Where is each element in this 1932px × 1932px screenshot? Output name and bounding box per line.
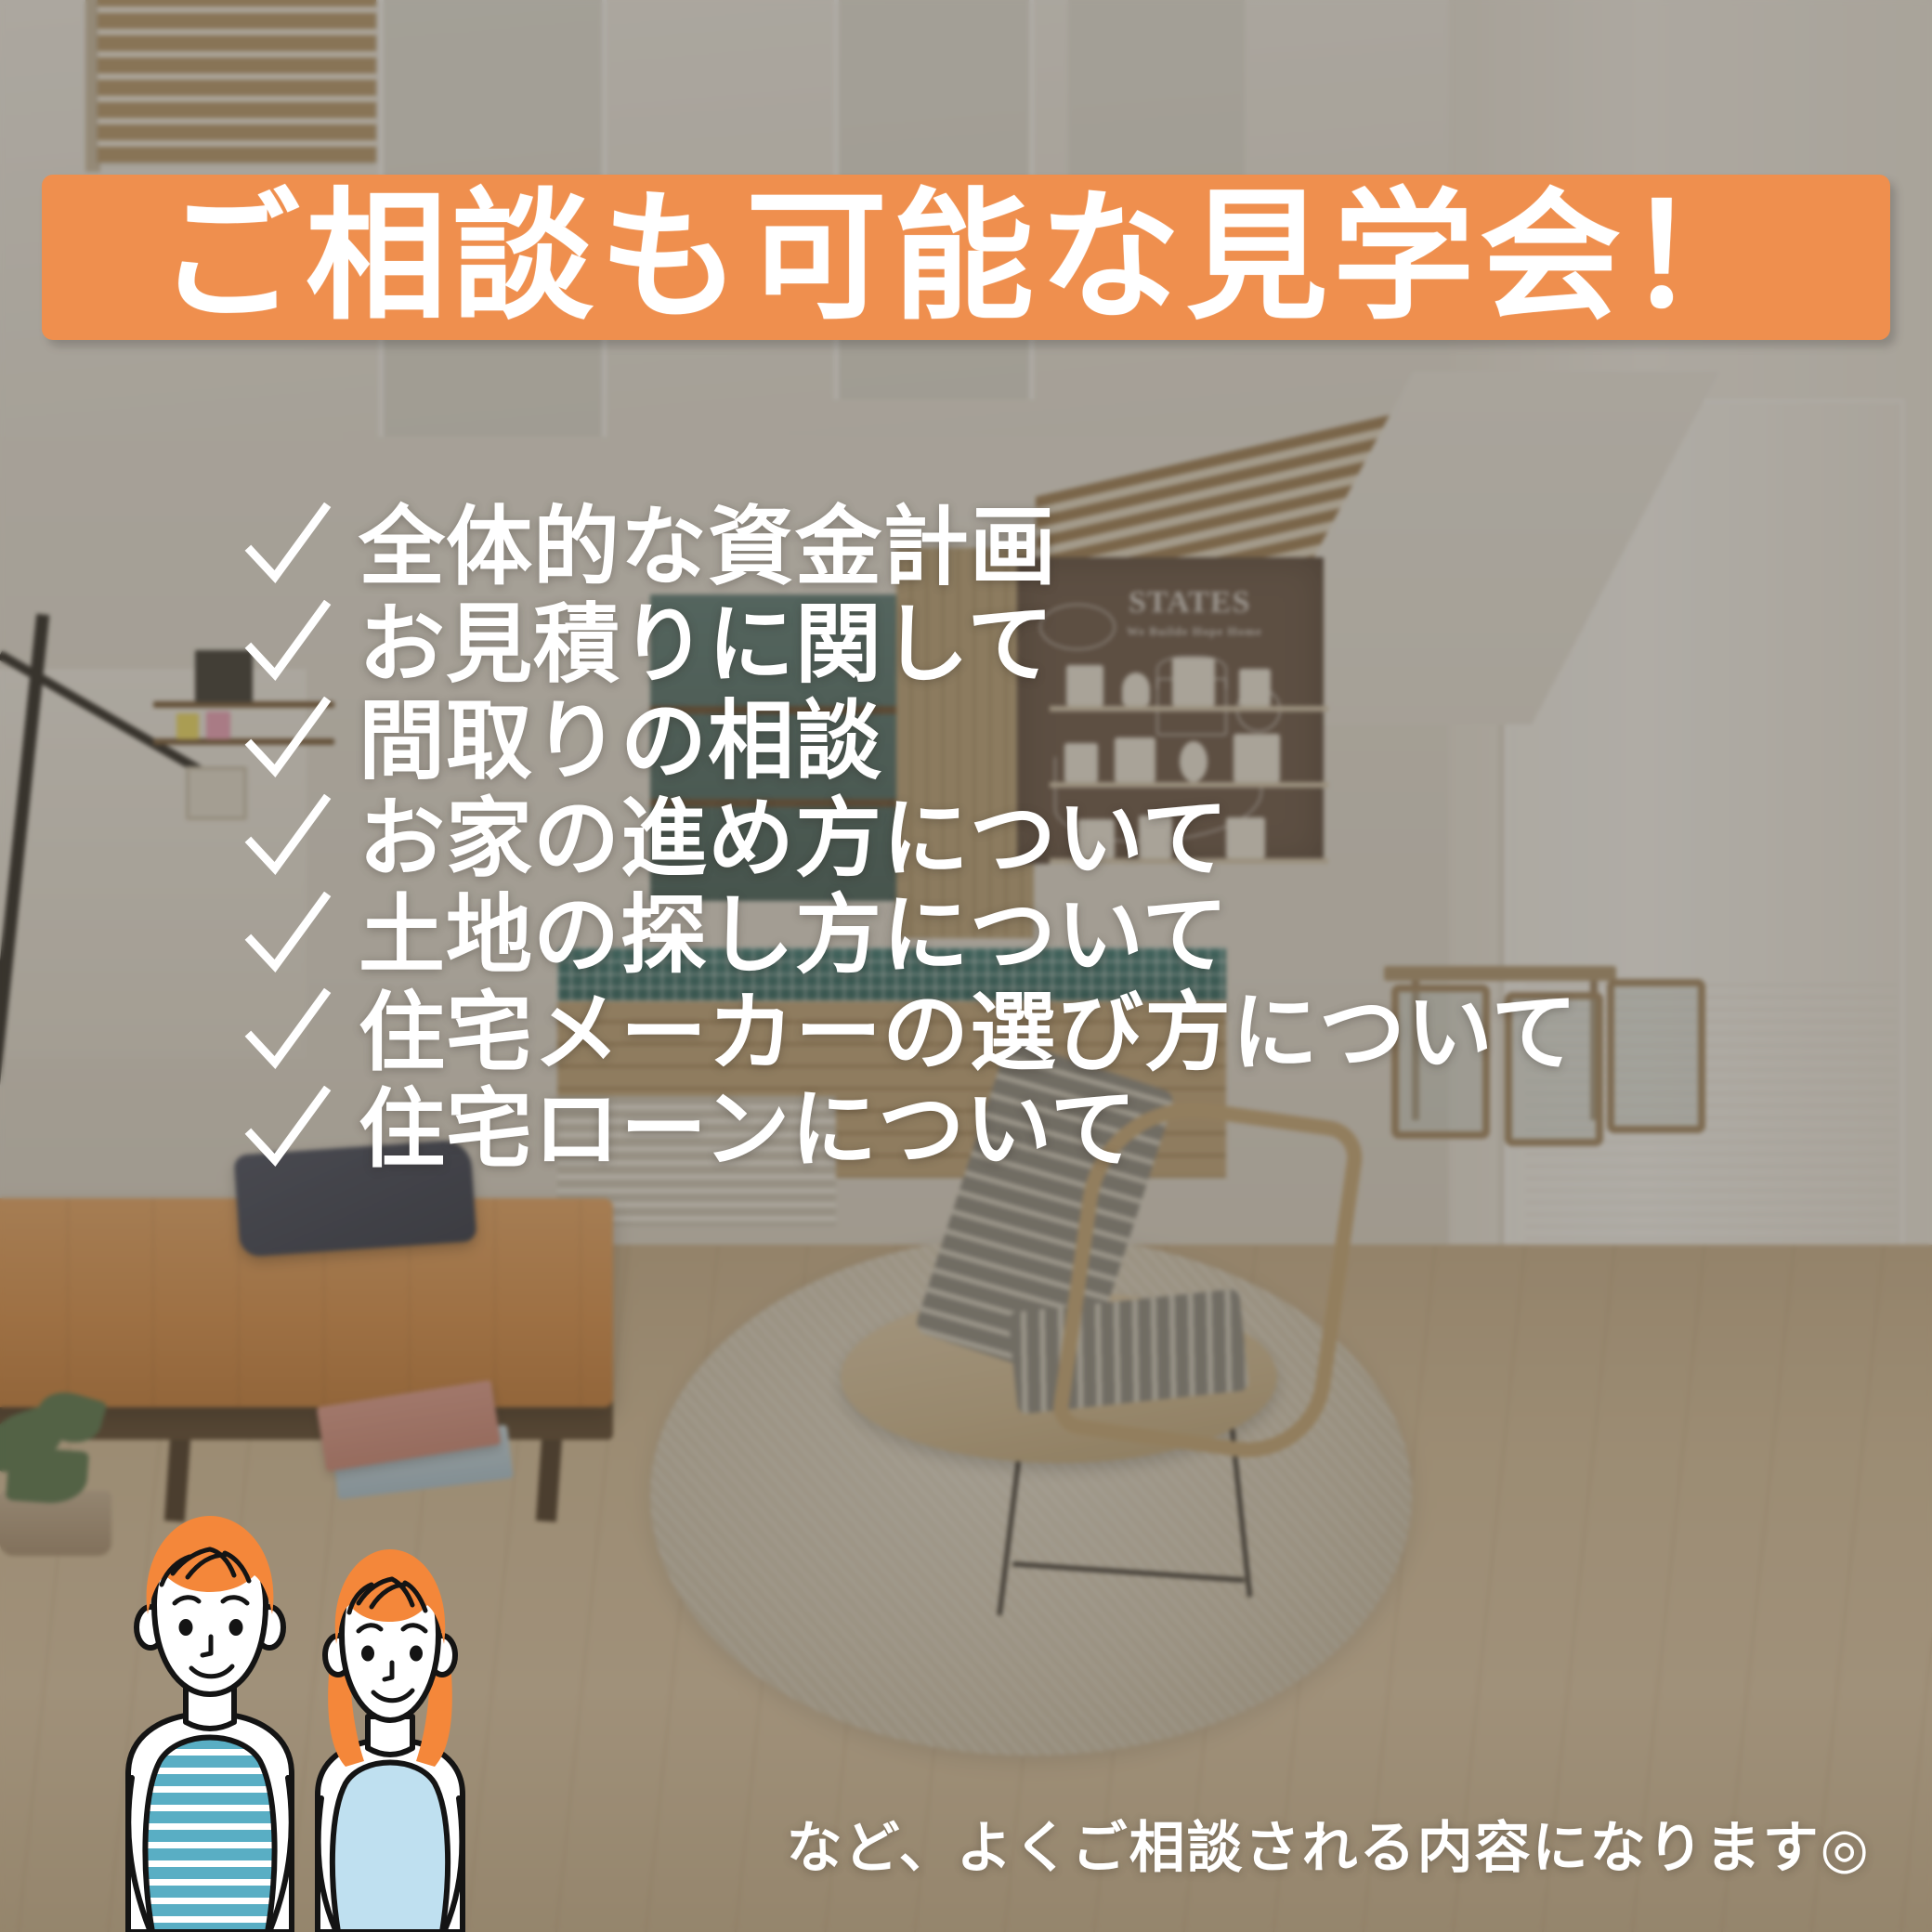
list-item: お家の進め方について (243, 793, 1915, 885)
headline-banner: ご相談も可能な見学会！ (42, 175, 1890, 340)
check-mark-icon (243, 988, 333, 1077)
checklist-item-label: 間取りの相談 (359, 696, 882, 788)
checklist-item-label: 全体的な資金計画 (359, 502, 1057, 594)
checklist-item-label: お家の進め方について (359, 793, 1229, 885)
checklist: 全体的な資金計画 お見積りに関して 間取りの相談 お家の進め方について (243, 502, 1915, 1181)
list-item: お見積りに関して (243, 599, 1915, 691)
list-item: 住宅ローンについて (243, 1084, 1915, 1176)
poster-root: STATES We Builde Hope Home (0, 0, 1932, 1932)
list-item: 間取りの相談 (243, 696, 1915, 788)
woman-figure (318, 1549, 463, 1932)
checklist-item-label: お見積りに関して (359, 599, 1054, 691)
list-item: 土地の探し方について (243, 890, 1915, 982)
footnote-text: など、よくご相談される内容になります◎ (787, 1803, 1871, 1884)
checklist-item-label: 住宅メーカーの選び方について (359, 987, 1578, 1079)
list-item: 全体的な資金計画 (243, 502, 1915, 594)
check-mark-icon (243, 503, 333, 592)
check-mark-icon (243, 794, 333, 883)
checklist-item-label: 土地の探し方について (359, 890, 1229, 982)
check-mark-icon (243, 892, 333, 981)
check-mark-icon (243, 697, 333, 786)
man-figure (128, 1516, 292, 1932)
headline-text: ご相談も可能な見学会！ (159, 187, 1773, 328)
checklist-item-label: 住宅ローンについて (359, 1084, 1138, 1176)
check-mark-icon (243, 600, 333, 689)
list-item: 住宅メーカーの選び方について (243, 987, 1915, 1079)
check-mark-icon (243, 1086, 333, 1175)
couple-illustration (43, 1495, 526, 1932)
poster-content: ご相談も可能な見学会！ 全体的な資金計画 お見積りに関して 間取りの相談 (0, 0, 1932, 1932)
